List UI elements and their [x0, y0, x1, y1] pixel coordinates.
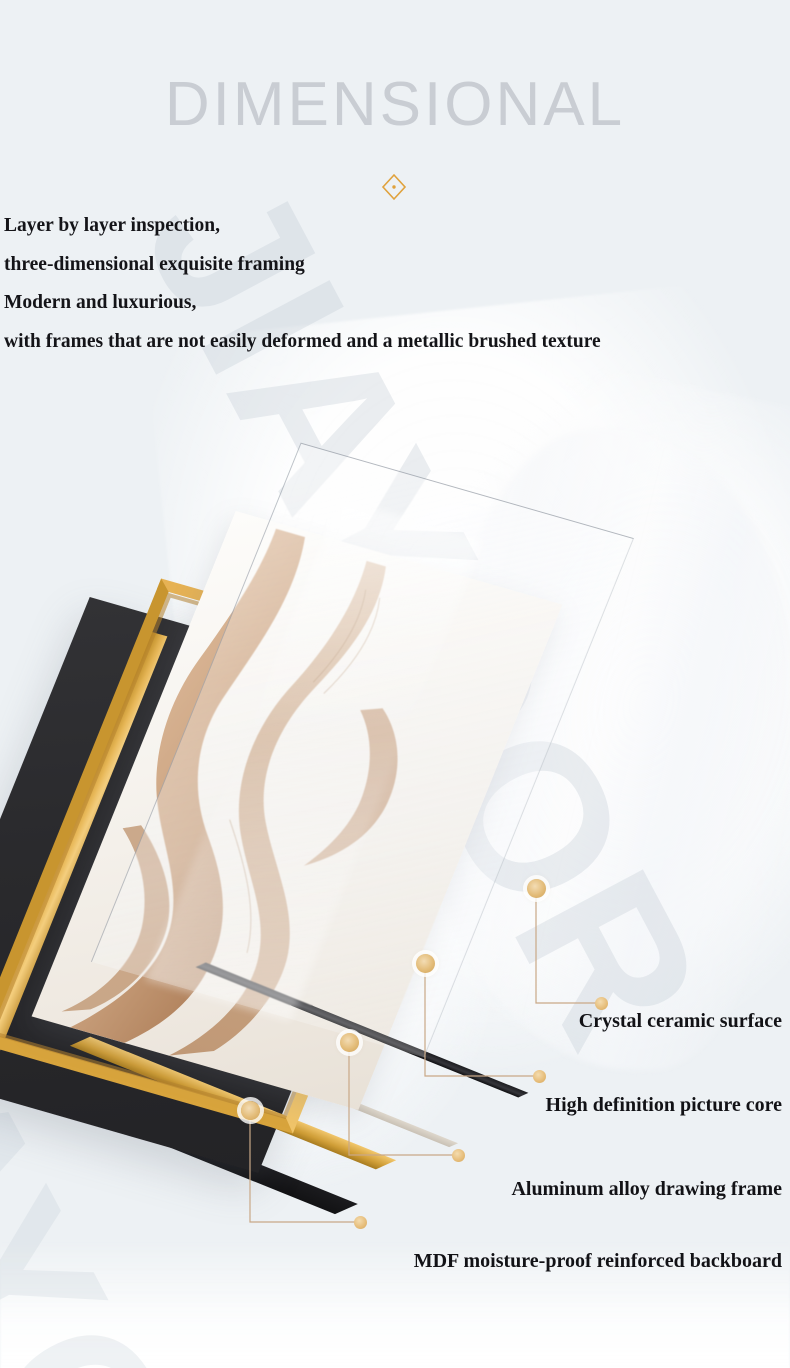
callout-layer: Crystal ceramic surface High definition …	[0, 0, 790, 1368]
callout-label-mdf-backboard: MDF moisture-proof reinforced backboard	[414, 1250, 782, 1273]
product-detail-page: JIAYOOR JIAYOOR DIMENSIONAL Layer by lay…	[0, 0, 790, 1368]
marker-high-definition-picture-core[interactable]	[416, 954, 435, 973]
marker-aluminum-alloy-drawing-frame[interactable]	[340, 1033, 359, 1052]
callout-label-crystal-ceramic-surface: Crystal ceramic surface	[579, 1010, 782, 1033]
leader-line-mdf-backboard	[250, 1110, 360, 1222]
leader-line-high-definition-picture-core	[425, 963, 539, 1076]
endpoint-aluminum-alloy-drawing-frame	[452, 1149, 465, 1162]
callout-label-high-definition-picture-core: High definition picture core	[546, 1094, 782, 1117]
endpoint-mdf-backboard	[354, 1216, 367, 1229]
marker-crystal-ceramic-surface[interactable]	[527, 879, 546, 898]
leader-line-crystal-ceramic-surface	[536, 888, 601, 1003]
endpoint-high-definition-picture-core	[533, 1070, 546, 1083]
leader-line-aluminum-alloy-drawing-frame	[349, 1042, 458, 1155]
callout-label-aluminum-alloy-drawing-frame: Aluminum alloy drawing frame	[511, 1178, 782, 1201]
marker-mdf-backboard[interactable]	[241, 1101, 260, 1120]
endpoint-crystal-ceramic-surface	[595, 997, 608, 1010]
callout-leader-lines	[0, 0, 790, 1368]
